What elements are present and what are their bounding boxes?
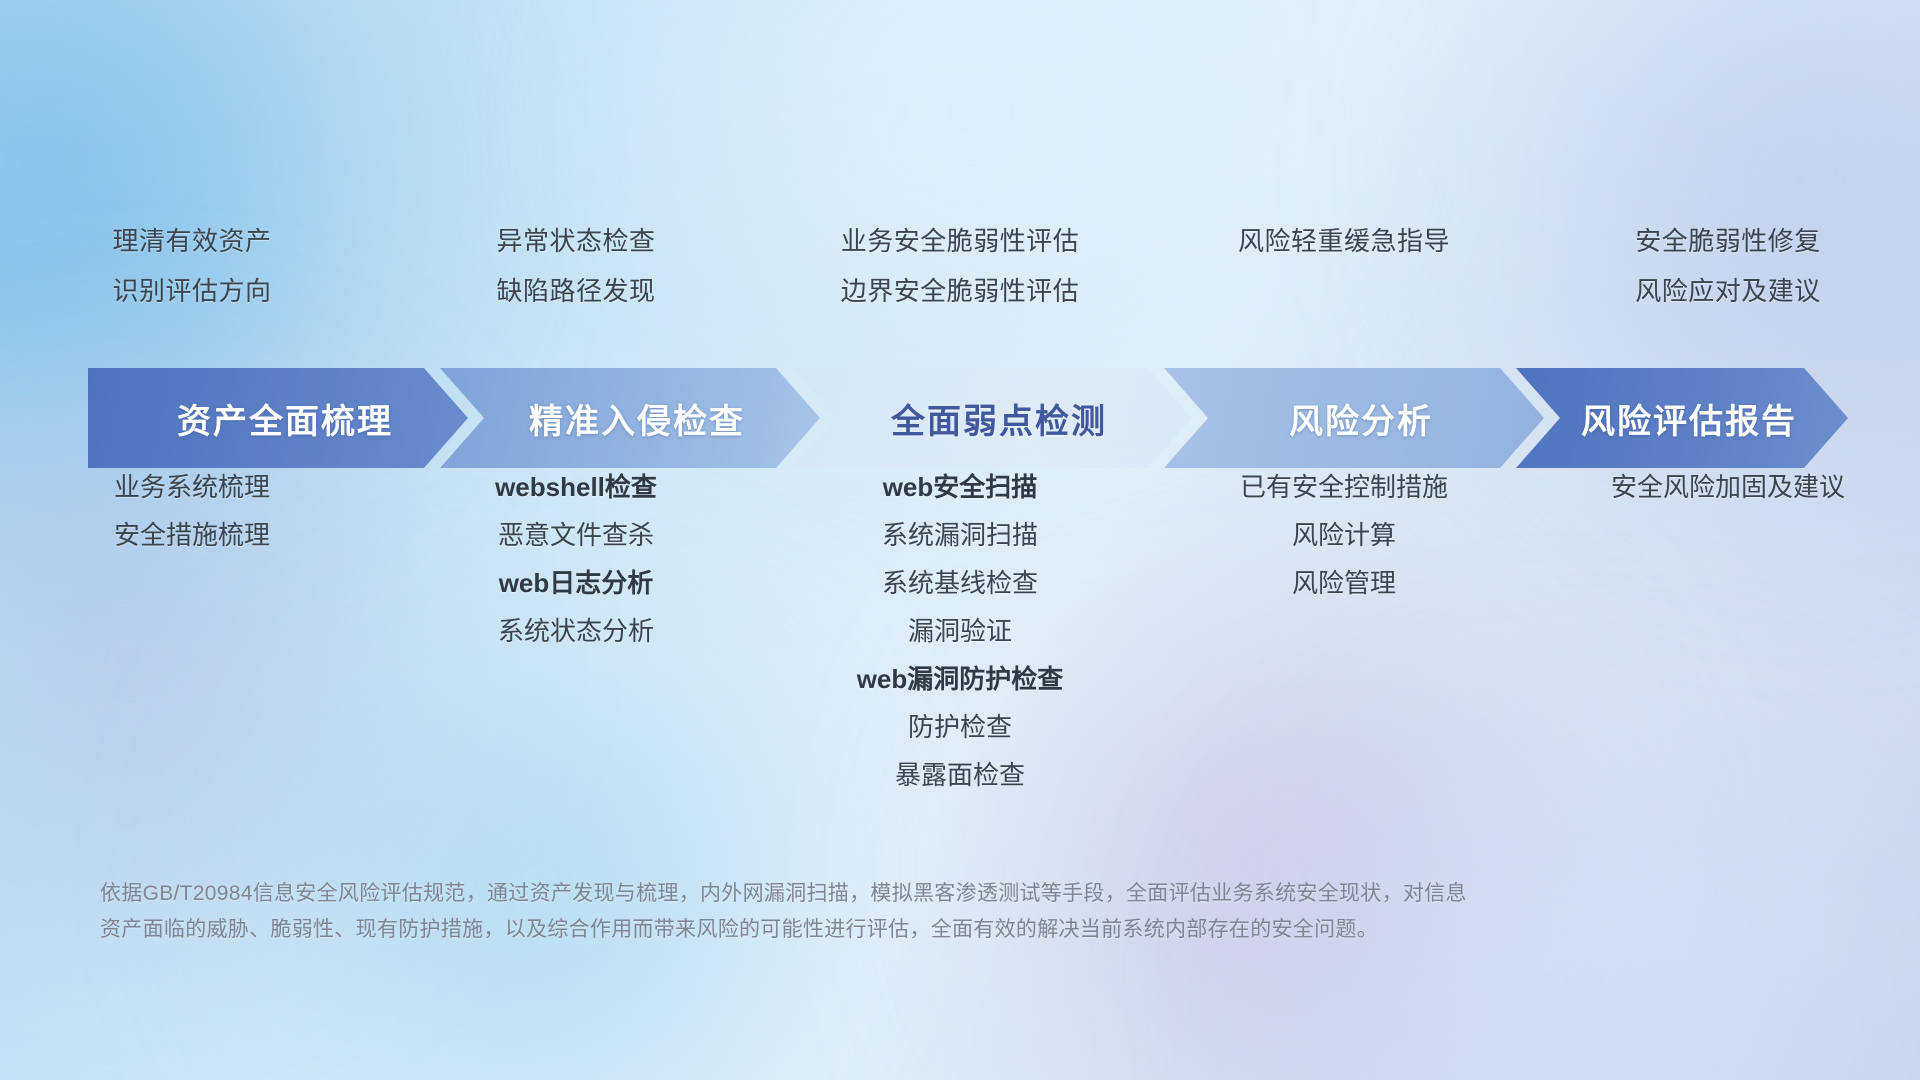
- stage-task: 系统漏洞扫描: [882, 522, 1038, 548]
- process-diagram: 理清有效资产 识别评估方向 异常状态检查 缺陷路径发现 业务安全脆弱性评估 边界…: [0, 0, 1920, 1080]
- stage-task: 业务系统梳理: [114, 474, 270, 500]
- stage-task: 防护检查: [908, 714, 1012, 740]
- stage-tasks-5: 安全风险加固及建议: [1536, 452, 1920, 788]
- stage-outputs-1: 理清有效资产 识别评估方向: [0, 228, 384, 304]
- stage-task: 系统基线检查: [882, 570, 1038, 596]
- chevron-stage-1-label: 资产全面梳理: [88, 394, 468, 443]
- stage-output: 识别评估方向: [112, 278, 271, 304]
- stage-task: web安全扫描: [883, 474, 1038, 500]
- stage-outputs-row: 理清有效资产 识别评估方向 异常状态检查 缺陷路径发现 业务安全脆弱性评估 边界…: [0, 228, 1920, 304]
- footer-line-1: 依据GB/T20984信息安全风险评估规范，通过资产发现与梳理，内外网漏洞扫描，…: [100, 876, 1660, 912]
- stage-output: 业务安全脆弱性评估: [841, 228, 1080, 254]
- stage-output: 风险应对及建议: [1635, 278, 1821, 304]
- stage-output: 风险轻重缓急指导: [1238, 228, 1450, 254]
- stage-tasks-4: 已有安全控制措施 风险计算 风险管理: [1152, 452, 1536, 788]
- stage-outputs-5: 安全脆弱性修复 风险应对及建议: [1536, 228, 1920, 304]
- stage-task: 漏洞验证: [908, 618, 1012, 644]
- stage-task: 系统状态分析: [498, 618, 654, 644]
- chevron-stage-2-label: 精准入侵检查: [440, 394, 820, 443]
- chevron-stage-5-label: 风险评估报告: [1516, 394, 1848, 443]
- chevron-stage-3-label: 全面弱点检测: [792, 394, 1192, 443]
- stage-outputs-3: 业务安全脆弱性评估 边界安全脆弱性评估: [768, 228, 1152, 304]
- footer-line-2: 资产面临的威胁、脆弱性、现有防护措施，以及综合作用而带来风险的可能性进行评估，全…: [100, 912, 1660, 948]
- stage-tasks-3: web安全扫描 系统漏洞扫描 系统基线检查 漏洞验证 web漏洞防护检查 防护检…: [768, 452, 1152, 788]
- stage-task: 风险管理: [1292, 570, 1396, 596]
- stage-output: 边界安全脆弱性评估: [841, 278, 1080, 304]
- stage-output: 异常状态检查: [496, 228, 655, 254]
- stage-task: 安全措施梳理: [114, 522, 270, 548]
- footer-description: 依据GB/T20984信息安全风险评估规范，通过资产发现与梳理，内外网漏洞扫描，…: [100, 876, 1660, 948]
- stage-output: 安全脆弱性修复: [1635, 228, 1821, 254]
- stage-task: web日志分析: [499, 570, 654, 596]
- stage-tasks-row: 业务系统梳理 安全措施梳理 webshell检查 恶意文件查杀 web日志分析 …: [0, 452, 1920, 788]
- stage-task: 恶意文件查杀: [498, 522, 654, 548]
- stage-task: 暴露面检查: [895, 762, 1025, 788]
- stage-task: 已有安全控制措施: [1240, 474, 1448, 500]
- stage-task: webshell检查: [495, 474, 657, 500]
- stage-outputs-2: 异常状态检查 缺陷路径发现: [384, 228, 768, 304]
- stage-output: 理清有效资产: [112, 228, 271, 254]
- stage-outputs-4: 风险轻重缓急指导: [1152, 228, 1536, 304]
- stage-tasks-1: 业务系统梳理 安全措施梳理: [0, 452, 384, 788]
- stage-task: 风险计算: [1292, 522, 1396, 548]
- stage-task: web漏洞防护检查: [857, 666, 1064, 692]
- chevron-stage-4-label: 风险分析: [1164, 394, 1544, 443]
- stage-output: 缺陷路径发现: [496, 278, 655, 304]
- stage-task: 安全风险加固及建议: [1611, 474, 1845, 500]
- stage-tasks-2: webshell检查 恶意文件查杀 web日志分析 系统状态分析: [384, 452, 768, 788]
